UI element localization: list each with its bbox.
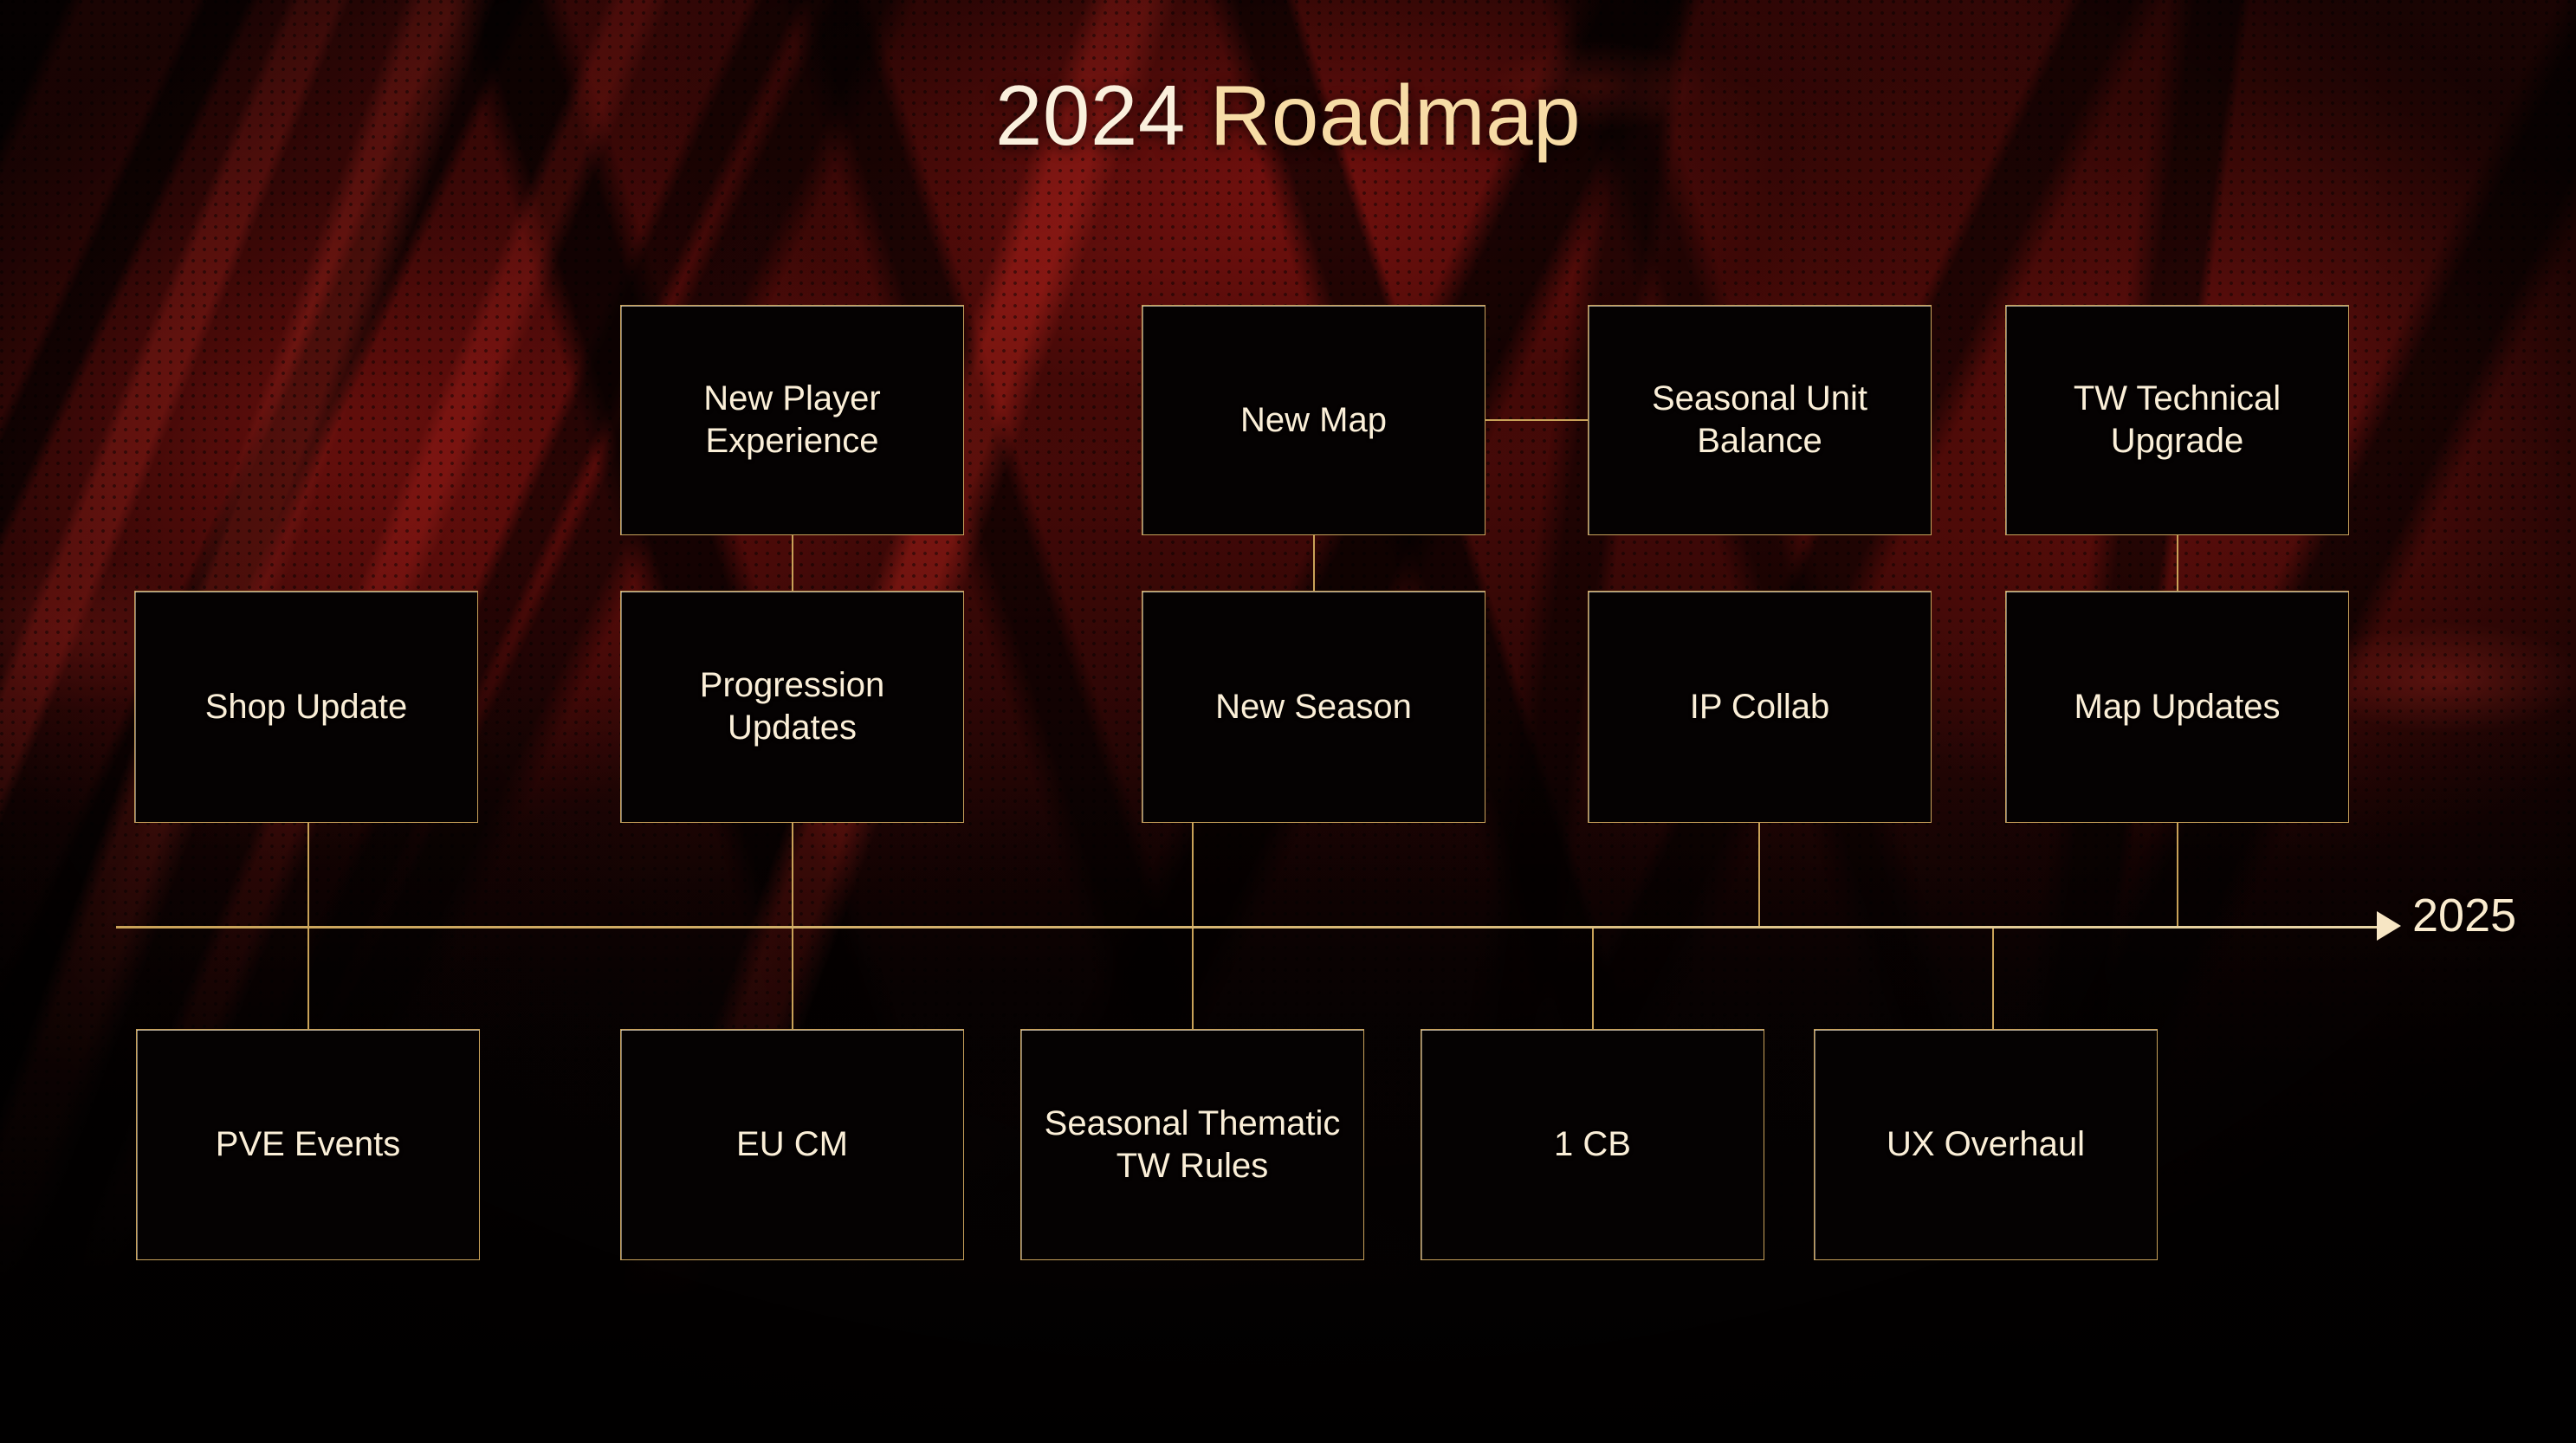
- roadmap-node-label: Progression Updates: [633, 664, 951, 749]
- roadmap-node-label: Seasonal Unit Balance: [1601, 378, 1919, 463]
- connector-mapupdates-to-timeline: [2177, 823, 2178, 927]
- roadmap-node-pve-events[interactable]: PVE Events: [136, 1029, 480, 1260]
- page-title: 2024 Roadmap: [0, 73, 2576, 158]
- roadmap-node-new-map[interactable]: New Map: [1142, 305, 1485, 535]
- roadmap-node-label: Seasonal Thematic TW Rules: [1033, 1103, 1351, 1187]
- roadmap-node-label: New Map: [1240, 399, 1387, 442]
- connector-timeline-to-1cb: [1592, 926, 1594, 1029]
- connector-newmap-to-seasonal: [1485, 419, 1588, 421]
- roadmap-node-new-player-experience[interactable]: New Player Experience: [620, 305, 964, 535]
- roadmap-node-label: IP Collab: [1690, 686, 1830, 728]
- timeline-axis: [116, 926, 2386, 929]
- timeline-end-label: 2025: [2412, 889, 2516, 942]
- arrow-right-icon: [2377, 911, 2401, 941]
- roadmap-node-progression-updates[interactable]: Progression Updates: [620, 591, 964, 823]
- roadmap-node-seasonal-thematic-tw-rules[interactable]: Seasonal Thematic TW Rules: [1020, 1029, 1364, 1260]
- roadmap-node-1-cb[interactable]: 1 CB: [1421, 1029, 1764, 1260]
- roadmap-node-ux-overhaul[interactable]: UX Overhaul: [1814, 1029, 2158, 1260]
- roadmap-node-label: 1 CB: [1554, 1123, 1631, 1166]
- connector-twtech-to-mapupdates: [2177, 535, 2178, 591]
- roadmap-diagram: 2024 Roadmap 2025 New Player ExperienceN…: [0, 0, 2576, 1443]
- connector-ipcollab-to-1cb: [1758, 823, 1760, 927]
- roadmap-node-eu-cm[interactable]: EU CM: [620, 1029, 964, 1260]
- page-title-year: 2024: [995, 68, 1210, 163]
- roadmap-node-label: New Season: [1215, 686, 1412, 728]
- connector-timeline-to-ux: [1992, 926, 1994, 1029]
- connector-newmap-to-newseason: [1313, 535, 1315, 591]
- page-title-word: Roadmap: [1210, 68, 1581, 163]
- roadmap-node-label: Map Updates: [2074, 686, 2281, 728]
- roadmap-node-label: Shop Update: [205, 686, 408, 728]
- roadmap-node-label: PVE Events: [216, 1123, 400, 1166]
- roadmap-node-tw-technical-upgrade[interactable]: TW Technical Upgrade: [2005, 305, 2349, 535]
- roadmap-node-shop-update[interactable]: Shop Update: [134, 591, 478, 823]
- roadmap-node-label: TW Technical Upgrade: [2018, 378, 2336, 463]
- roadmap-node-map-updates[interactable]: Map Updates: [2005, 591, 2349, 823]
- roadmap-node-label: EU CM: [736, 1123, 848, 1166]
- roadmap-node-label: New Player Experience: [633, 378, 951, 463]
- roadmap-node-seasonal-unit-balance[interactable]: Seasonal Unit Balance: [1588, 305, 1932, 535]
- roadmap-node-new-season[interactable]: New Season: [1142, 591, 1485, 823]
- roadmap-node-label: UX Overhaul: [1887, 1123, 2085, 1166]
- connector-npe-to-progression: [792, 535, 793, 591]
- roadmap-node-ip-collab[interactable]: IP Collab: [1588, 591, 1932, 823]
